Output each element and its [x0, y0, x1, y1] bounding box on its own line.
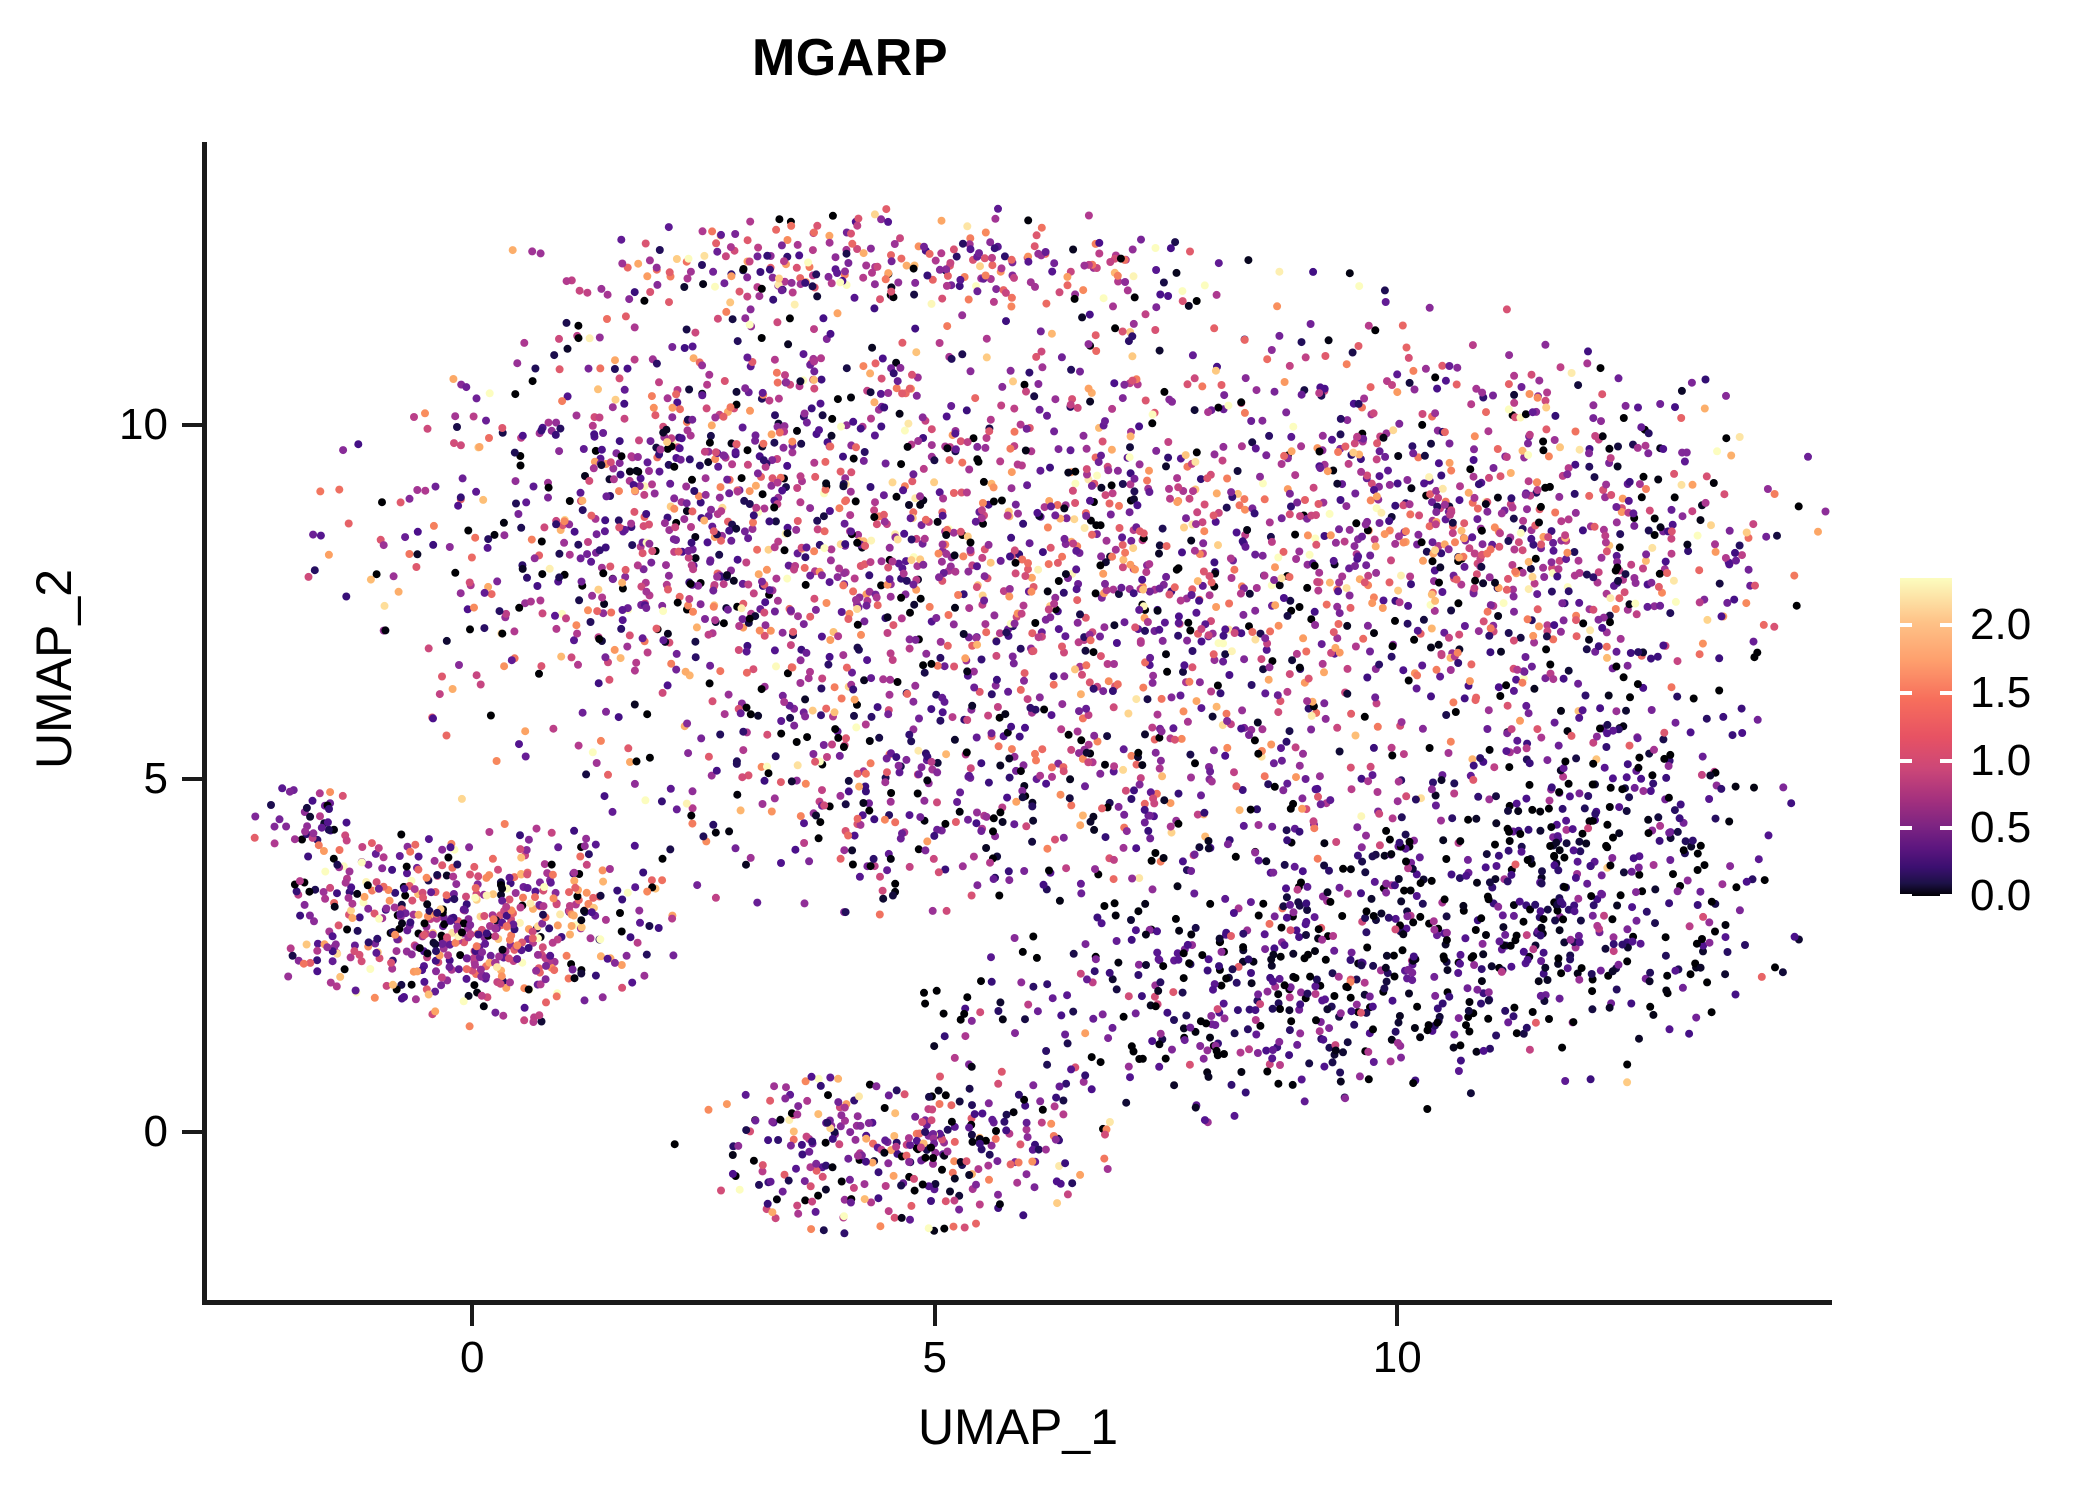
scatter-point: [664, 445, 672, 453]
scatter-point: [1502, 681, 1510, 689]
scatter-point: [1715, 654, 1723, 662]
scatter-point: [582, 770, 590, 778]
scatter-point: [1486, 878, 1494, 886]
scatter-point: [965, 296, 973, 304]
scatter-point: [1585, 463, 1593, 471]
scatter-point: [1472, 815, 1480, 823]
scatter-point: [1644, 816, 1652, 824]
scatter-point: [1171, 736, 1179, 744]
scatter-point: [1606, 1004, 1614, 1012]
scatter-point: [1724, 948, 1732, 956]
scatter-point: [529, 377, 537, 385]
scatter-point: [1145, 560, 1153, 568]
scatter-point: [772, 662, 780, 670]
scatter-point: [1344, 665, 1352, 673]
scatter-point: [1435, 579, 1443, 587]
scatter-point: [1639, 787, 1647, 795]
scatter-point: [1624, 662, 1632, 670]
scatter-point: [782, 378, 790, 386]
scatter-point: [849, 587, 857, 595]
scatter-point: [714, 315, 722, 323]
scatter-point: [775, 395, 783, 403]
scatter-point: [1351, 490, 1359, 498]
scatter-point: [436, 690, 444, 698]
scatter-point: [1616, 530, 1624, 538]
scatter-point: [982, 628, 990, 636]
scatter-point: [1278, 460, 1286, 468]
scatter-point: [784, 529, 792, 537]
scatter-point: [1116, 524, 1124, 532]
scatter-point: [309, 829, 317, 837]
scatter-point: [1336, 1069, 1344, 1077]
scatter-point: [1433, 1019, 1441, 1027]
scatter-point: [1324, 888, 1332, 896]
scatter-point: [486, 389, 494, 397]
scatter-point: [1048, 330, 1056, 338]
scatter-point: [993, 676, 1001, 684]
scatter-point: [1474, 505, 1482, 513]
scatter-point: [984, 712, 992, 720]
scatter-point: [1262, 451, 1270, 459]
scatter-point: [479, 496, 487, 504]
scatter-point: [722, 252, 730, 260]
scatter-point: [366, 965, 374, 973]
scatter-point: [1601, 532, 1609, 540]
scatter-point: [438, 673, 446, 681]
scatter-point: [967, 539, 975, 547]
scatter-point: [1004, 688, 1012, 696]
scatter-point: [741, 384, 749, 392]
scatter-point: [1712, 815, 1720, 823]
scatter-point: [893, 493, 901, 501]
scatter-point: [811, 473, 819, 481]
scatter-point: [741, 527, 749, 535]
scatter-point: [1386, 836, 1394, 844]
scatter-point: [918, 763, 926, 771]
scatter-point: [900, 530, 908, 538]
scatter-point: [577, 970, 585, 978]
scatter-point: [968, 892, 976, 900]
scatter-point: [792, 526, 800, 534]
scatter-point: [1666, 856, 1674, 864]
scatter-point: [1508, 725, 1516, 733]
scatter-point: [945, 611, 953, 619]
scatter-point: [836, 792, 844, 800]
scatter-point: [599, 878, 607, 886]
scatter-point: [1318, 640, 1326, 648]
scatter-point: [940, 1225, 948, 1233]
scatter-point: [519, 432, 527, 440]
scatter-point: [579, 709, 587, 717]
scatter-point: [1303, 584, 1311, 592]
scatter-point: [666, 268, 674, 276]
scatter-point: [380, 541, 388, 549]
scatter-point: [771, 356, 779, 364]
scatter-point: [336, 846, 344, 854]
scatter-point: [592, 841, 600, 849]
scatter-point: [1073, 585, 1081, 593]
scatter-point: [1404, 864, 1412, 872]
scatter-point: [1755, 855, 1763, 863]
scatter-point: [982, 844, 990, 852]
scatter-point: [514, 510, 522, 518]
scatter-point: [744, 461, 752, 469]
scatter-point: [1388, 653, 1396, 661]
scatter-point: [1690, 695, 1698, 703]
scatter-point: [1572, 754, 1580, 762]
scatter-point: [795, 251, 803, 259]
scatter-point: [465, 843, 473, 851]
scatter-point: [1189, 647, 1197, 655]
scatter-point: [904, 443, 912, 451]
scatter-point: [905, 501, 913, 509]
scatter-point: [1146, 812, 1154, 820]
scatter-point: [928, 425, 936, 433]
scatter-point: [1197, 704, 1205, 712]
scatter-point: [1456, 1041, 1464, 1049]
scatter-point: [1223, 710, 1231, 718]
scatter-point: [1454, 969, 1462, 977]
scatter-point: [1602, 743, 1610, 751]
scatter-point: [682, 483, 690, 491]
scatter-point: [1363, 907, 1371, 915]
scatter-point: [478, 948, 486, 956]
scatter-point: [777, 859, 785, 867]
scatter-point: [1436, 563, 1444, 571]
scatter-point: [788, 448, 796, 456]
scatter-point: [1669, 521, 1677, 529]
scatter-point: [1335, 620, 1343, 628]
scatter-point: [861, 448, 869, 456]
scatter-point: [1179, 297, 1187, 305]
scatter-point: [1357, 889, 1365, 897]
scatter-point: [521, 1004, 529, 1012]
scatter-point: [988, 254, 996, 262]
scatter-point: [566, 931, 574, 939]
scatter-point: [886, 575, 894, 583]
scatter-point: [1280, 594, 1288, 602]
scatter-point: [296, 912, 304, 920]
scatter-point: [1676, 814, 1684, 822]
scatter-point: [983, 353, 991, 361]
scatter-point: [1468, 533, 1476, 541]
scatter-point: [589, 894, 597, 902]
scatter-point: [1402, 792, 1410, 800]
scatter-point: [1570, 548, 1578, 556]
scatter-point: [942, 531, 950, 539]
scatter-point: [1542, 404, 1550, 412]
scatter-point: [1420, 479, 1428, 487]
scatter-point: [698, 361, 706, 369]
scatter-point: [1665, 829, 1673, 837]
scatter-point: [648, 876, 656, 884]
scatter-point: [1228, 574, 1236, 582]
scatter-point: [554, 921, 562, 929]
scatter-point: [616, 437, 624, 445]
scatter-point: [1403, 912, 1411, 920]
scatter-point: [1251, 607, 1259, 615]
scatter-point: [1259, 900, 1267, 908]
scatter-point: [1295, 933, 1303, 941]
scatter-point: [1413, 892, 1421, 900]
scatter-point: [787, 641, 795, 649]
scatter-point: [1555, 788, 1563, 796]
scatter-point: [769, 296, 777, 304]
scatter-point: [1014, 510, 1022, 518]
scatter-point: [1243, 526, 1251, 534]
scatter-point: [1312, 541, 1320, 549]
scatter-point: [1187, 931, 1195, 939]
scatter-point: [607, 609, 615, 617]
scatter-point: [891, 818, 899, 826]
scatter-point: [1032, 353, 1040, 361]
scatter-point: [1135, 606, 1143, 614]
scatter-point: [1743, 529, 1751, 537]
scatter-point: [350, 947, 358, 955]
scatter-point: [1612, 605, 1620, 613]
scatter-point: [410, 413, 418, 421]
scatter-point: [1450, 1044, 1458, 1052]
scatter-point: [1351, 562, 1359, 570]
scatter-point: [1388, 744, 1396, 752]
scatter-point: [1544, 533, 1552, 541]
scatter-point: [1302, 899, 1310, 907]
scatter-point: [1665, 794, 1673, 802]
scatter-point: [874, 703, 882, 711]
scatter-point: [887, 288, 895, 296]
scatter-point: [963, 667, 971, 675]
scatter-point: [451, 412, 459, 420]
scatter-point: [1114, 272, 1122, 280]
scatter-point: [1637, 775, 1645, 783]
scatter-point: [1020, 677, 1028, 685]
scatter-point: [774, 479, 782, 487]
scatter-point: [766, 266, 774, 274]
scatter-point: [802, 649, 810, 657]
scatter-point: [949, 713, 957, 721]
scatter-point: [1539, 438, 1547, 446]
scatter-point: [443, 732, 451, 740]
scatter-point: [1008, 468, 1016, 476]
scatter-point: [613, 887, 621, 895]
scatter-point: [712, 239, 720, 247]
scatter-point: [699, 227, 707, 235]
scatter-point: [731, 230, 739, 238]
scatter-point: [840, 743, 848, 751]
scatter-point: [1666, 609, 1674, 617]
scatter-point: [1669, 870, 1677, 878]
scatter-point: [588, 592, 596, 600]
scatter-point: [1668, 550, 1676, 558]
scatter-point: [1394, 480, 1402, 488]
scatter-point: [1561, 531, 1569, 539]
scatter-point: [1555, 742, 1563, 750]
scatter-point: [1414, 627, 1422, 635]
scatter-point: [1656, 570, 1664, 578]
scatter-point: [908, 371, 916, 379]
scatter-point: [1499, 911, 1507, 919]
scatter-point: [1710, 479, 1718, 487]
scatter-point: [1100, 902, 1108, 910]
scatter-point: [1418, 538, 1426, 546]
scatter-point: [1314, 587, 1322, 595]
scatter-point: [1406, 510, 1414, 518]
scatter-point: [1205, 844, 1213, 852]
scatter-point: [1159, 525, 1167, 533]
scatter-point: [990, 483, 998, 491]
scatter-point: [1186, 495, 1194, 503]
scatter-point: [1383, 952, 1391, 960]
scatter-point: [1114, 467, 1122, 475]
scatter-point: [1651, 919, 1659, 927]
scatter-point: [1238, 706, 1246, 714]
scatter-point: [628, 979, 636, 987]
scatter-point: [499, 946, 507, 954]
scatter-point: [1394, 452, 1402, 460]
scatter-point: [458, 928, 466, 936]
scatter-point: [1221, 752, 1229, 760]
scatter-point: [1579, 619, 1587, 627]
scatter-point: [1398, 718, 1406, 726]
scatter-point: [497, 980, 505, 988]
scatter-point: [929, 907, 937, 915]
scatter-point: [860, 249, 868, 257]
scatter-point: [712, 448, 720, 456]
scatter-point: [1299, 750, 1307, 758]
scatter-point: [836, 752, 844, 760]
scatter-point: [1504, 807, 1512, 815]
scatter-point: [963, 406, 971, 414]
scatter-point: [603, 315, 611, 323]
scatter-point: [1447, 467, 1455, 475]
scatter-point: [1257, 655, 1265, 663]
scatter-point: [708, 421, 716, 429]
scatter-point: [1205, 837, 1213, 845]
scatter-point: [1461, 934, 1469, 942]
scatter-point: [1051, 395, 1059, 403]
scatter-point: [990, 298, 998, 306]
scatter-point: [894, 279, 902, 287]
scatter-point: [992, 637, 1000, 645]
scatter-point: [818, 786, 826, 794]
scatter-point: [1634, 444, 1642, 452]
scatter-point: [1678, 481, 1686, 489]
scatter-point: [1277, 953, 1285, 961]
scatter-point: [1173, 566, 1181, 574]
scatter-point: [375, 844, 383, 852]
scatter-point: [1353, 823, 1361, 831]
scatter-point: [1106, 258, 1114, 266]
scatter-point: [1560, 616, 1568, 624]
scatter-point: [598, 446, 606, 454]
scatter-point: [781, 371, 789, 379]
scatter-point: [566, 497, 574, 505]
scatter-point: [743, 704, 751, 712]
scatter-point: [1770, 623, 1778, 631]
scatter-point: [1121, 549, 1129, 557]
scatter-point: [658, 797, 666, 805]
scatter-point: [1232, 853, 1240, 861]
scatter-point: [1184, 380, 1192, 388]
scatter-point: [889, 478, 897, 486]
scatter-point: [977, 827, 985, 835]
scatter-point: [1187, 774, 1195, 782]
scatter-point: [1662, 987, 1670, 995]
scatter-point: [1230, 566, 1238, 574]
scatter-point: [539, 943, 547, 951]
scatter-point: [487, 712, 495, 720]
scatter-point: [1598, 554, 1606, 562]
scatter-point: [1599, 432, 1607, 440]
scatter-point: [1449, 519, 1457, 527]
scatter-point: [1253, 386, 1261, 394]
scatter-point: [522, 498, 530, 506]
scatter-point: [1507, 942, 1515, 950]
scatter-point: [698, 261, 706, 269]
scatter-point: [1667, 535, 1675, 543]
scatter-point: [1557, 628, 1565, 636]
scatter-point: [762, 621, 770, 629]
scatter-point: [1361, 979, 1369, 987]
scatter-point: [1646, 969, 1654, 977]
scatter-point: [1539, 446, 1547, 454]
scatter-point: [1302, 648, 1310, 656]
scatter-point: [1415, 511, 1423, 519]
scatter-point: [809, 282, 817, 290]
scatter-point: [817, 685, 825, 693]
scatter-point: [735, 646, 743, 654]
scatter-point: [1192, 924, 1200, 932]
scatter-point: [1022, 822, 1030, 830]
scatter-point: [656, 468, 664, 476]
scatter-point: [1056, 288, 1064, 296]
scatter-point: [999, 818, 1007, 826]
scatter-point: [329, 932, 337, 940]
scatter-point: [1623, 925, 1631, 933]
scatter-point: [678, 434, 686, 442]
scatter-point: [1395, 778, 1403, 786]
scatter-point: [897, 255, 905, 263]
scatter-point: [1722, 933, 1730, 941]
scatter-point: [1242, 543, 1250, 551]
scatter-point: [1151, 849, 1159, 857]
scatter-point: [414, 866, 422, 874]
scatter-point: [793, 738, 801, 746]
scatter-point: [550, 894, 558, 902]
scatter-point: [725, 527, 733, 535]
scatter-point: [699, 832, 707, 840]
scatter-point: [1127, 916, 1135, 924]
scatter-point: [1023, 1170, 1031, 1178]
scatter-point: [1625, 793, 1633, 801]
scatter-point: [854, 215, 862, 223]
scatter-point: [1420, 616, 1428, 624]
scatter-point: [1283, 914, 1291, 922]
scatter-point: [867, 483, 875, 491]
scatter-point: [873, 594, 881, 602]
scatter-point: [568, 653, 576, 661]
scatter-point: [548, 829, 556, 837]
scatter-point: [601, 653, 609, 661]
scatter-point: [1193, 448, 1201, 456]
scatter-point: [1615, 803, 1623, 811]
scatter-point: [1608, 854, 1616, 862]
scatter-point: [1537, 957, 1545, 965]
scatter-point: [1518, 848, 1526, 856]
scatter-point: [882, 275, 890, 283]
scatter-point: [1343, 690, 1351, 698]
scatter-point: [1237, 725, 1245, 733]
